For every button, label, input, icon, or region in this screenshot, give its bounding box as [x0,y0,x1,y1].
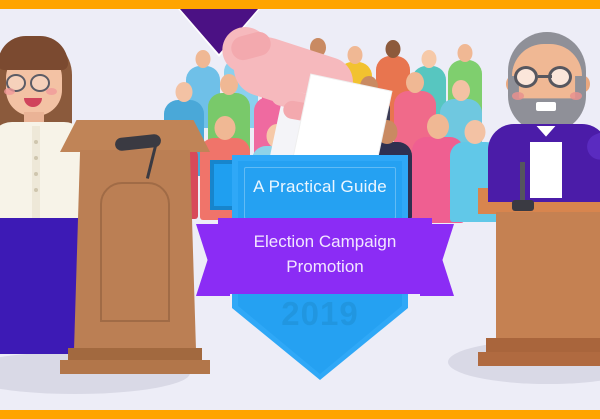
crowd-person-head [422,50,437,68]
poster-canvas: A Practical Guide 2019 Election Campaign… [0,0,600,419]
man-glasses-left-lens [514,66,538,88]
voting-hand-illustration [225,30,385,175]
woman-button [34,172,38,176]
crowd-person-head [427,114,449,139]
left-podium [60,120,210,370]
crowd-person-head [386,40,401,58]
man-cheek-left [512,92,524,100]
left-podium-panel [100,182,170,322]
ribbon-title-line1: Election Campaign [218,230,432,255]
right-podium-column [496,212,600,342]
badge-subtitle: A Practical Guide [232,177,408,197]
bottom-accent-bar [0,410,600,419]
woman-button [34,140,38,144]
man-smile [536,102,556,111]
badge-year: 2019 [232,295,408,333]
woman-button [34,156,38,160]
woman-cheek-right [46,88,57,95]
right-podium [478,188,600,378]
woman-button [34,188,38,192]
right-podium-plinth [478,352,600,366]
right-microphone-head [512,200,534,211]
left-podium-plinth [60,360,210,374]
crowd-person-head [458,44,473,62]
man-glasses-bridge [538,75,552,78]
crowd-person-head [406,72,424,93]
woman-cheek-left [4,88,15,95]
man-speaker [482,32,600,212]
top-accent-bar [0,0,600,9]
crowd-person-head [452,80,470,101]
crowd-person-head [176,82,193,102]
ribbon-title: Election Campaign Promotion [218,230,432,279]
title-ribbon: Election Campaign Promotion [196,218,454,294]
crowd-person-head [196,50,211,68]
woman-hair-top [0,36,68,70]
ribbon-title-line2: Promotion [218,255,432,280]
man-cheek-right [570,92,582,100]
